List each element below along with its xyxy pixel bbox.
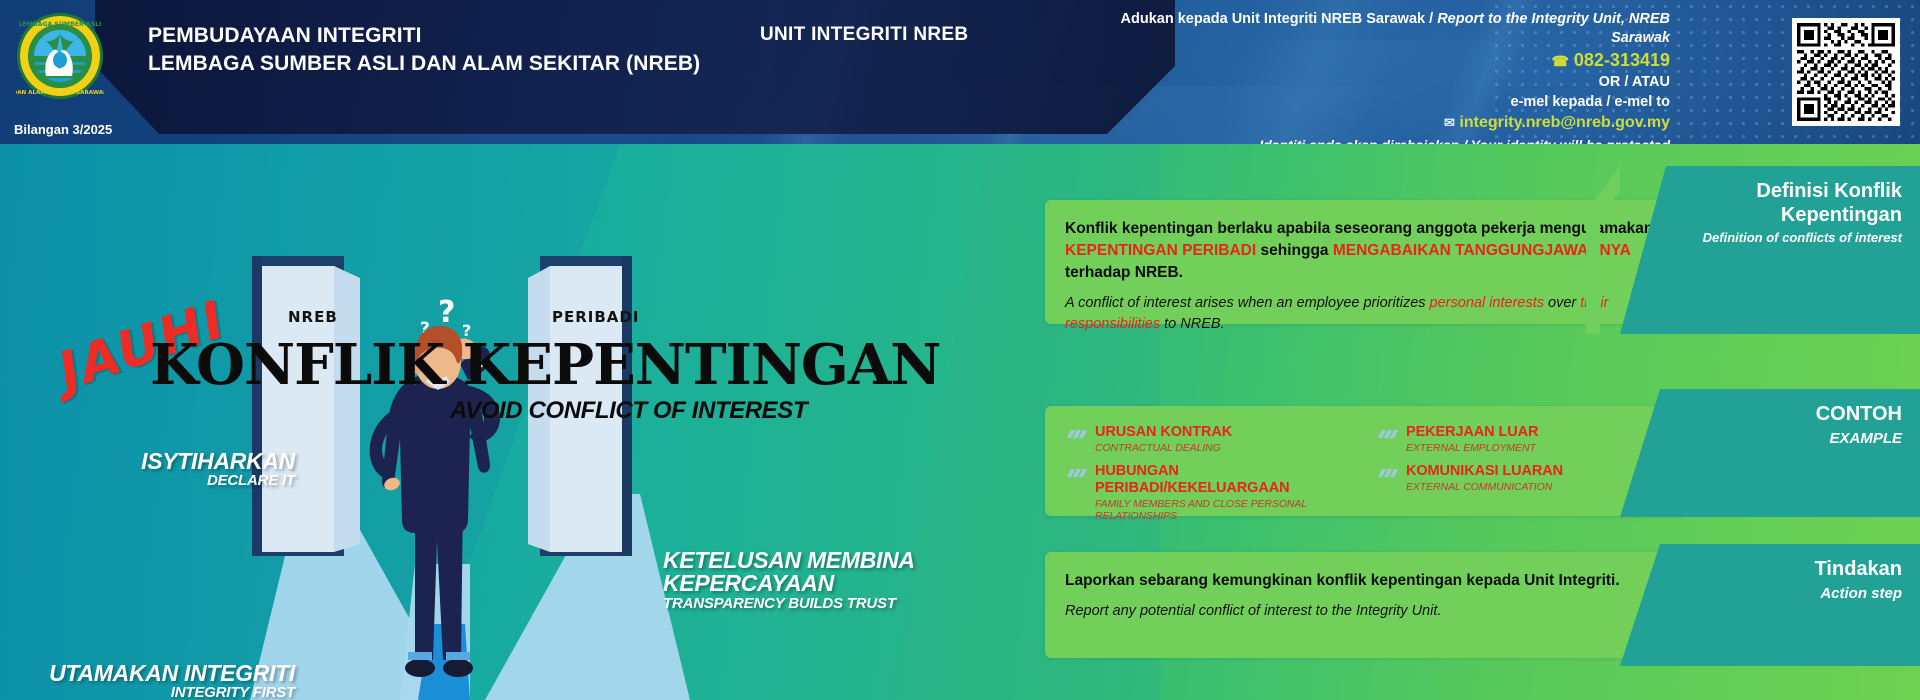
definition-ms-red1: KEPENTINGAN PERIBADI [1065,242,1256,259]
label-integrity-first: UTAMAKAN INTEGRITI INTEGRITY FIRST [30,662,295,700]
label-trust-en: TRANSPARENCY BUILDS TRUST [663,596,923,612]
definition-ms-red2: MENGABAIKAN TANGGUNGJAWABNYA [1333,242,1630,259]
privacy-note: Identiti anda akan dirahsiakan / Your id… [1070,136,1670,144]
definition-en-red1: personal interests [1430,295,1544,311]
svg-text:DAN ALAM SEKITAR SARAWAK: DAN ALAM SEKITAR SARAWAK [16,90,104,96]
door-label-nreb: NREB [288,308,338,326]
nreb-logo: LEMBAGA SUMBER ASLI DAN ALAM SEKITAR SAR… [16,12,104,100]
definition-text-en: A conflict of interest arises when an em… [1065,293,1665,334]
definition-ms-part3: terhadap NREB. [1065,264,1183,281]
example-item: PEKERJAAN LUAR EXTERNAL EMPLOYMENT [1376,424,1665,454]
slash-bullet-icon [1376,466,1398,484]
label-integrity-ms: UTAMAKAN INTEGRITI [30,662,295,685]
hero-illustration: ? ? ? [0,144,900,700]
example-en: FAMILY MEMBERS AND CLOSE PERSONAL RELATI… [1095,498,1354,523]
phone-number[interactable]: 082-313419 [1574,50,1670,70]
panel-examples: URUSAN KONTRAK CONTRACTUAL DEALING [1045,406,1685,516]
label-declare-en: DECLARE IT [105,473,295,489]
qr-code-icon [1797,23,1895,121]
definition-text-ms: Konflik kepentingan berlaku apabila sese… [1065,218,1665,284]
issue-number: Bilangan 3/2025 [14,122,112,137]
email-line[interactable]: ✉ integrity.nreb@nreb.gov.my [1070,113,1670,134]
tab-example[interactable]: CONTOH EXAMPLE [1620,389,1920,517]
report-separator: / [1425,11,1437,27]
definition-en-part3: to NREB. [1160,316,1224,332]
nreb-logo-icon: LEMBAGA SUMBER ASLI DAN ALAM SEKITAR SAR… [16,12,104,100]
phone-icon: ☎ [1551,53,1568,69]
definition-ms-part1: Konflik kepentingan berlaku apabila sese… [1065,220,1653,237]
page-subtitle: AVOID CONFLICT OF INTEREST [450,397,807,425]
slash-bullet-icon [1376,427,1398,445]
definition-ms-part2: sehingga [1256,242,1333,259]
tab-definition-en: Definition of conflicts of interest [1660,230,1902,245]
slash-bullet-icon [1065,427,1087,445]
contact-block: Adukan kepada Unit Integriti NREB Sarawa… [1070,10,1670,144]
page-title: KONFLIK KEPENTINGAN [150,332,940,398]
tab-example-ms: CONTOH [1660,403,1902,427]
svg-text:LEMBAGA SUMBER ASLI: LEMBAGA SUMBER ASLI [19,21,102,28]
label-trust-ms: KETELUSAN MEMBINA KEPERCAYAAN [663,549,923,596]
slash-bullet-icon [1065,466,1087,484]
example-ms: PEKERJAAN LUAR [1406,424,1538,441]
email-label: e-mel kepada / e-mel to [1070,93,1670,112]
report-line: Adukan kepada Unit Integriti NREB Sarawa… [1070,10,1670,48]
example-item: KOMUNIKASI LUARAN EXTERNAL COMMUNICATION [1376,463,1665,493]
tab-action-en: Action step [1660,585,1902,603]
svg-text:?: ? [438,295,455,330]
page-header: LEMBAGA SUMBER ASLI DAN ALAM SEKITAR SAR… [0,0,1920,144]
example-item: HUBUNGAN PERIBADI/KEKELUARGAAN FAMILY ME… [1065,463,1354,523]
header-title-line2: LEMBAGA SUMBER ASLI DAN ALAM SEKITAR (NR… [148,50,700,78]
door-label-peribadi: PERIBADI [552,308,639,326]
example-item: URUSAN KONTRAK CONTRACTUAL DEALING [1065,424,1354,454]
example-text: HUBUNGAN PERIBADI/KEKELUARGAAN FAMILY ME… [1095,463,1354,523]
qr-code[interactable] [1792,18,1900,126]
poster-root: LEMBAGA SUMBER ASLI DAN ALAM SEKITAR SAR… [0,0,1920,700]
example-en: EXTERNAL COMMUNICATION [1406,481,1563,494]
envelope-icon: ✉ [1444,115,1455,130]
report-label-ms: Adukan kepada Unit Integriti NREB Sarawa… [1121,11,1426,27]
tab-definition-ms: Definisi Konflik Kepentingan [1660,180,1902,227]
label-transparency-trust: KETELUSAN MEMBINA KEPERCAYAAN TRANSPAREN… [663,549,923,612]
tab-action[interactable]: Tindakan Action step [1620,544,1920,666]
example-text: PEKERJAAN LUAR EXTERNAL EMPLOYMENT [1406,424,1538,454]
label-declare-it: ISYTIHARKAN DECLARE IT [105,450,295,489]
examples-column-left: URUSAN KONTRAK CONTRACTUAL DEALING [1065,424,1354,532]
panel-action: Laporkan sebarang kemungkinan konflik ke… [1045,552,1685,658]
definition-en-part1: A conflict of interest arises when an em… [1065,295,1430,311]
action-text-ms: Laporkan sebarang kemungkinan konflik ke… [1065,570,1665,592]
or-label: OR / ATAU [1070,73,1670,92]
label-integrity-en: INTEGRITY FIRST [30,685,295,700]
tab-action-ms: Tindakan [1660,558,1902,582]
example-ms: URUSAN KONTRAK [1095,424,1232,441]
definition-en-part2: over [1544,295,1580,311]
examples-grid: URUSAN KONTRAK CONTRACTUAL DEALING [1065,424,1665,532]
header-title-line1: PEMBUDAYAAN INTEGRITI [148,22,700,50]
phone-line[interactable]: ☎ 082-313419 [1070,49,1670,72]
example-en: CONTRACTUAL DEALING [1095,442,1232,455]
example-ms: KOMUNIKASI LUARAN [1406,463,1563,480]
label-declare-ms: ISYTIHARKAN [105,450,295,473]
example-text: URUSAN KONTRAK CONTRACTUAL DEALING [1095,424,1232,454]
example-en: EXTERNAL EMPLOYMENT [1406,442,1538,455]
header-title: PEMBUDAYAAN INTEGRITI LEMBAGA SUMBER ASL… [148,22,700,77]
report-label-en: Report to the Integrity Unit, NREB Saraw… [1437,11,1670,46]
action-text-en: Report any potential conflict of interes… [1065,601,1665,622]
example-text: KOMUNIKASI LUARAN EXTERNAL COMMUNICATION [1406,463,1563,493]
example-ms: HUBUNGAN PERIBADI/KEKELUARGAAN [1095,463,1354,496]
content-panels: Konflik kepentingan berlaku apabila sese… [1040,144,1920,700]
tab-definition[interactable]: Definisi Konflik Kepentingan Definition … [1620,166,1920,334]
door-nreb [252,256,360,556]
tab-example-en: EXAMPLE [1660,430,1902,448]
email-address[interactable]: integrity.nreb@nreb.gov.my [1459,114,1670,131]
